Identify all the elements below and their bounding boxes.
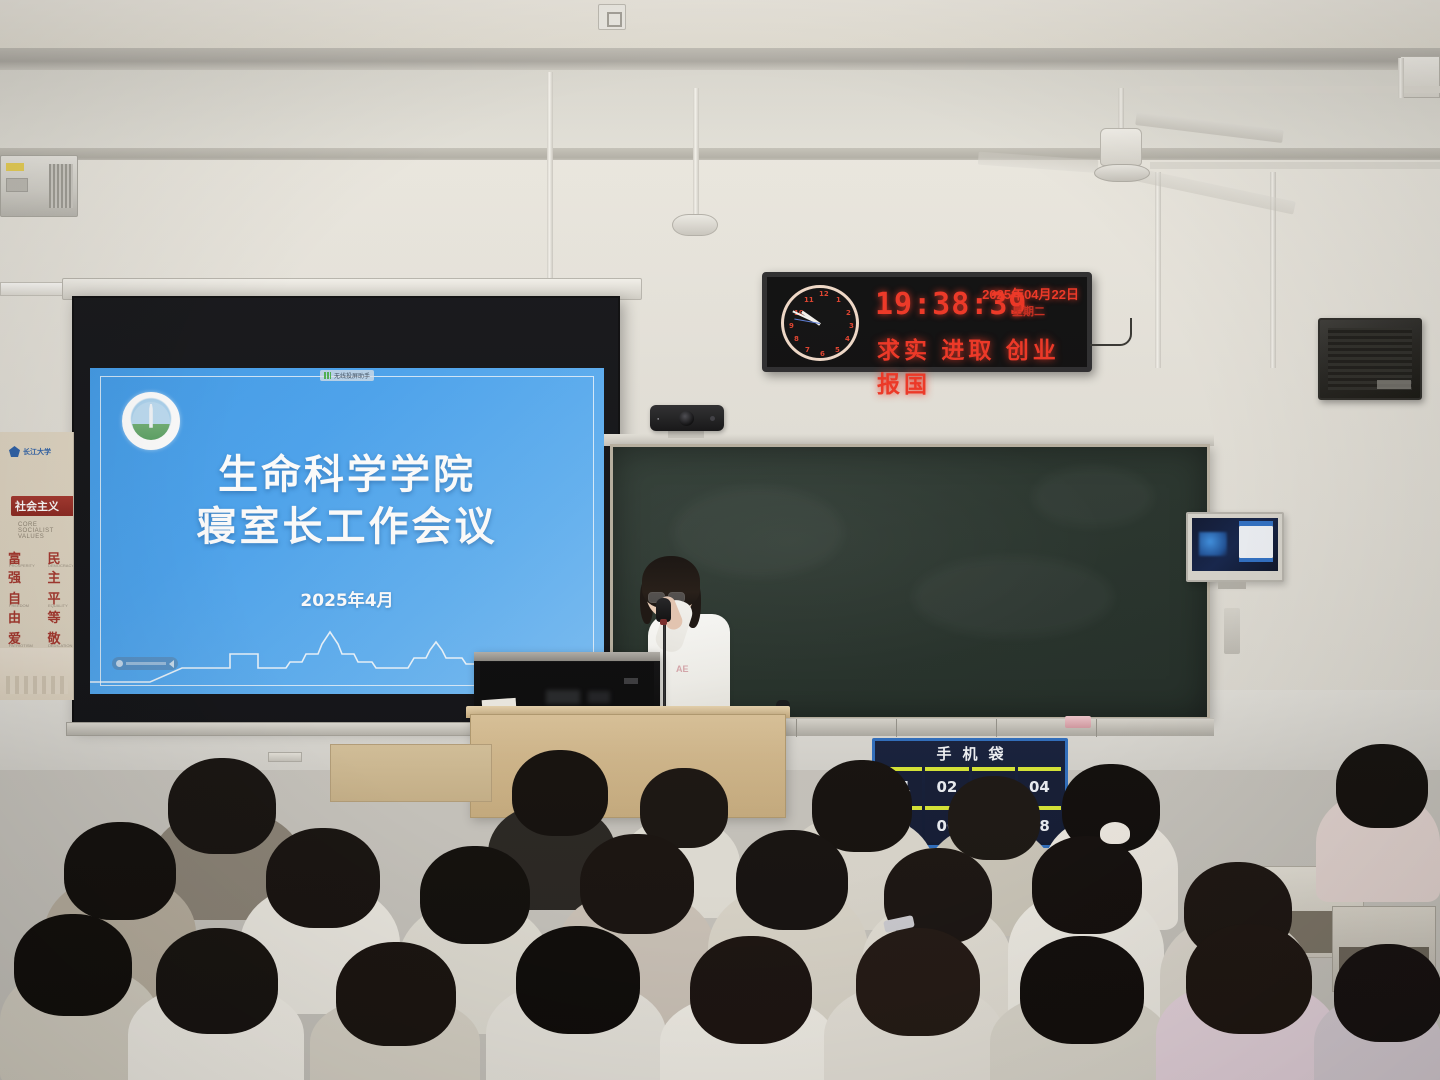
student-head (1032, 836, 1142, 934)
student-head (1186, 924, 1312, 1034)
student-head (168, 758, 276, 854)
projector-label (6, 178, 28, 192)
screen-reflection (546, 690, 580, 704)
slide-date-text: 2025年4月 (90, 586, 604, 611)
student-head (736, 830, 848, 930)
poster-values-row: 富强 民主 PROSPERITY DEMOCRACY (8, 548, 73, 586)
projector-warning-label (6, 163, 24, 171)
camera-mount (668, 430, 704, 438)
slide-playback-control[interactable] (112, 657, 178, 670)
student-head (512, 750, 608, 836)
value-word-en: EQUALITY (48, 603, 68, 608)
clock-number: 1 (836, 296, 841, 304)
poster-values-row: 自由 平等 FREEDOM EQUALITY (8, 588, 73, 626)
poster-banner: 社会主义 (11, 496, 74, 516)
clock-number: 2 (846, 309, 851, 317)
university-mark-icon (9, 446, 20, 457)
ceiling-conduit (1140, 86, 1440, 93)
student-head (156, 928, 278, 1034)
hanging-rod (1155, 172, 1161, 368)
slide-title-line1: 生命科学学院 (90, 442, 604, 500)
ceiling-fan-rod (1118, 88, 1124, 132)
student-head (856, 928, 980, 1036)
poster-university-logo: 长江大学 (9, 446, 51, 457)
clock-number: 7 (805, 346, 810, 354)
ceiling-soffit (0, 70, 1440, 152)
monitor-panel (1239, 526, 1273, 558)
student-head (336, 942, 456, 1046)
seated-students (0, 730, 1440, 1080)
hanging-rod (693, 88, 699, 220)
student-head (1334, 944, 1440, 1042)
clock-number: 11 (804, 296, 814, 304)
student-head (948, 776, 1040, 860)
value-word-en: DEMOCRACY (48, 563, 74, 568)
ceiling-projector (0, 155, 78, 217)
student-head (266, 828, 380, 928)
poster-architecture-icon (6, 676, 68, 694)
microphone-head[interactable] (656, 598, 671, 622)
play-dot-icon[interactable] (116, 660, 123, 667)
wall-speaker (1318, 318, 1422, 400)
clock-number: 4 (845, 335, 850, 343)
cast-badge-text: 无线投屏助手 (334, 371, 370, 380)
screen-reflection (588, 691, 610, 703)
pendant-lamp-shade (672, 214, 718, 236)
blackboard-eraser[interactable] (1065, 716, 1091, 728)
poster-english-subtitle: CORE SOCIALIST VALUES (18, 522, 73, 540)
ceiling-fan-motor (1100, 128, 1142, 166)
student-head (420, 846, 530, 944)
wall-mount-plate (1224, 608, 1240, 654)
camera-brand-label: ● (657, 416, 659, 421)
student-head (516, 926, 640, 1034)
clock-number: 8 (794, 335, 799, 343)
led-date-text: 2025年04月22日 (982, 284, 1079, 303)
presentation-slide[interactable]: 无线投屏助手 生命科学学院 寝室长工作会议 2025年4月 (90, 368, 604, 694)
monitor-brand-logo (624, 678, 638, 684)
hanging-rod (1398, 58, 1404, 98)
power-outlet (598, 4, 626, 30)
monitor-graphic (1199, 532, 1227, 556)
poster-org-name: 长江大学 (23, 447, 51, 457)
ceiling-fan-hub (1094, 164, 1150, 182)
value-word-en: PROSPERITY (9, 563, 35, 568)
student-head (1020, 936, 1144, 1044)
clock-number: 12 (819, 290, 829, 298)
signal-icon (324, 372, 331, 379)
poster-footer-graphic (0, 648, 73, 700)
slide-title-line2: 寝室长工作会议 (90, 494, 604, 552)
classroom-scene: 12 1 2 3 4 5 6 7 8 9 10 11 19:38:39 2025… (0, 0, 1440, 1080)
camera-indicator-icon (710, 416, 715, 421)
monitor-bezel (474, 652, 660, 661)
ceiling-beam-upper (0, 48, 1440, 72)
clock-power-cable (1090, 318, 1132, 346)
ceiling-conduit (1150, 162, 1440, 169)
core-values-poster: 长江大学 社会主义 CORE SOCIALIST VALUES 富强 民主 PR… (0, 432, 74, 700)
next-arrow-icon[interactable] (169, 660, 174, 668)
monitor-panel-footer (1239, 558, 1273, 562)
student-head (1336, 744, 1428, 828)
student-head (812, 760, 912, 852)
clock-number: 5 (835, 346, 840, 354)
presenter-shirt-logo: AE (676, 664, 694, 676)
player-label (126, 662, 166, 665)
wall-control-monitor[interactable] (1186, 512, 1284, 582)
student-head (64, 822, 176, 920)
clock-number: 9 (789, 322, 794, 330)
ceiling-upper-wall (0, 0, 1440, 52)
camera-lens-icon (679, 411, 694, 426)
led-clock-display: 12 1 2 3 4 5 6 7 8 9 10 11 19:38:39 2025… (762, 272, 1092, 372)
clock-number: 3 (849, 322, 854, 330)
led-weekday-text: 星期二 (1012, 303, 1045, 319)
clock-number: 6 (820, 350, 825, 358)
analog-clock-face: 12 1 2 3 4 5 6 7 8 9 10 11 (781, 285, 859, 361)
hair-bow-accessory (1100, 822, 1130, 844)
projector-vent (49, 164, 73, 208)
wall-camera: ● (650, 405, 724, 431)
monitor-bracket (1218, 582, 1246, 589)
value-word-en: FREEDOM (9, 603, 29, 608)
wireless-cast-badge: 无线投屏助手 (320, 370, 374, 381)
student-head (580, 834, 694, 934)
wall-monitor-screen (1192, 518, 1278, 571)
led-motto-text: 求实 进取 创业 报国 (877, 331, 1087, 399)
student-head (690, 936, 812, 1044)
speaker-brand-label (1377, 380, 1411, 389)
student-head (14, 914, 132, 1016)
